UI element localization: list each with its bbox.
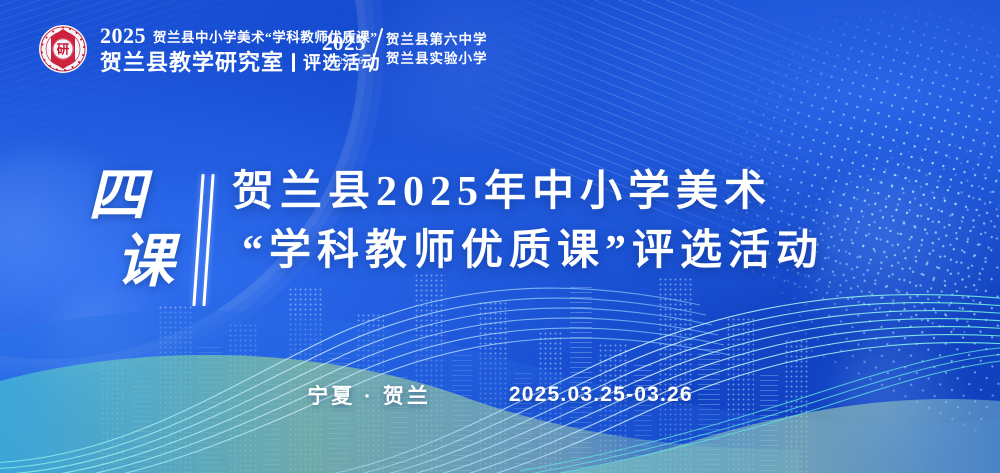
research-institute-emblem-icon: 研 bbox=[38, 24, 88, 74]
footer-info: 宁夏 · 贺兰 2025.03.25-03.26 bbox=[0, 380, 1000, 410]
header-divider-bar bbox=[292, 53, 295, 72]
title-line-2: “学科教师优质课”评选活动 bbox=[232, 229, 824, 274]
title-double-bar-divider bbox=[196, 174, 218, 306]
footer-place: 宁夏 · 贺兰 bbox=[307, 380, 431, 410]
brush-character-1: 四 bbox=[88, 166, 196, 224]
header-right-date: 2025 03.25-26 bbox=[322, 33, 366, 68]
school-name-1: 贺兰县第六中学 bbox=[386, 33, 488, 48]
main-title-block: 四 课 贺兰县2025年中小学美术 “学科教师优质课”评选活动 bbox=[0, 168, 1000, 328]
brush-character-2: 课 bbox=[116, 232, 196, 290]
header-right-date-range: 03.25-26 bbox=[325, 58, 364, 68]
header-year: 2025 bbox=[100, 25, 146, 47]
title-lines: 贺兰县2025年中小学美术 “学科教师优质课”评选活动 bbox=[232, 170, 824, 273]
event-banner: 研 2025 贺兰县中小学美术“学科教师优质课” 贺兰县教学研究室 评选活动 2… bbox=[0, 0, 1000, 473]
footer-dates: 2025.03.25-03.26 bbox=[509, 383, 693, 407]
divider-bar-right bbox=[202, 174, 214, 306]
emblem-center-character: 研 bbox=[57, 42, 70, 57]
header-slash-divider bbox=[369, 28, 384, 72]
header-organization: 贺兰县教学研究室 bbox=[100, 52, 284, 74]
brush-calligraphy-mark: 四 课 bbox=[86, 166, 196, 306]
school-name-2: 贺兰县实验小学 bbox=[386, 52, 488, 67]
header-school-list: 贺兰县第六中学 贺兰县实验小学 bbox=[386, 33, 488, 67]
header-right-year: 2025 bbox=[322, 33, 366, 54]
title-line-1: 贺兰县2025年中小学美术 bbox=[232, 170, 824, 215]
header-venue-block: 2025 03.25-26 贺兰县第六中学 贺兰县实验小学 bbox=[322, 28, 488, 72]
